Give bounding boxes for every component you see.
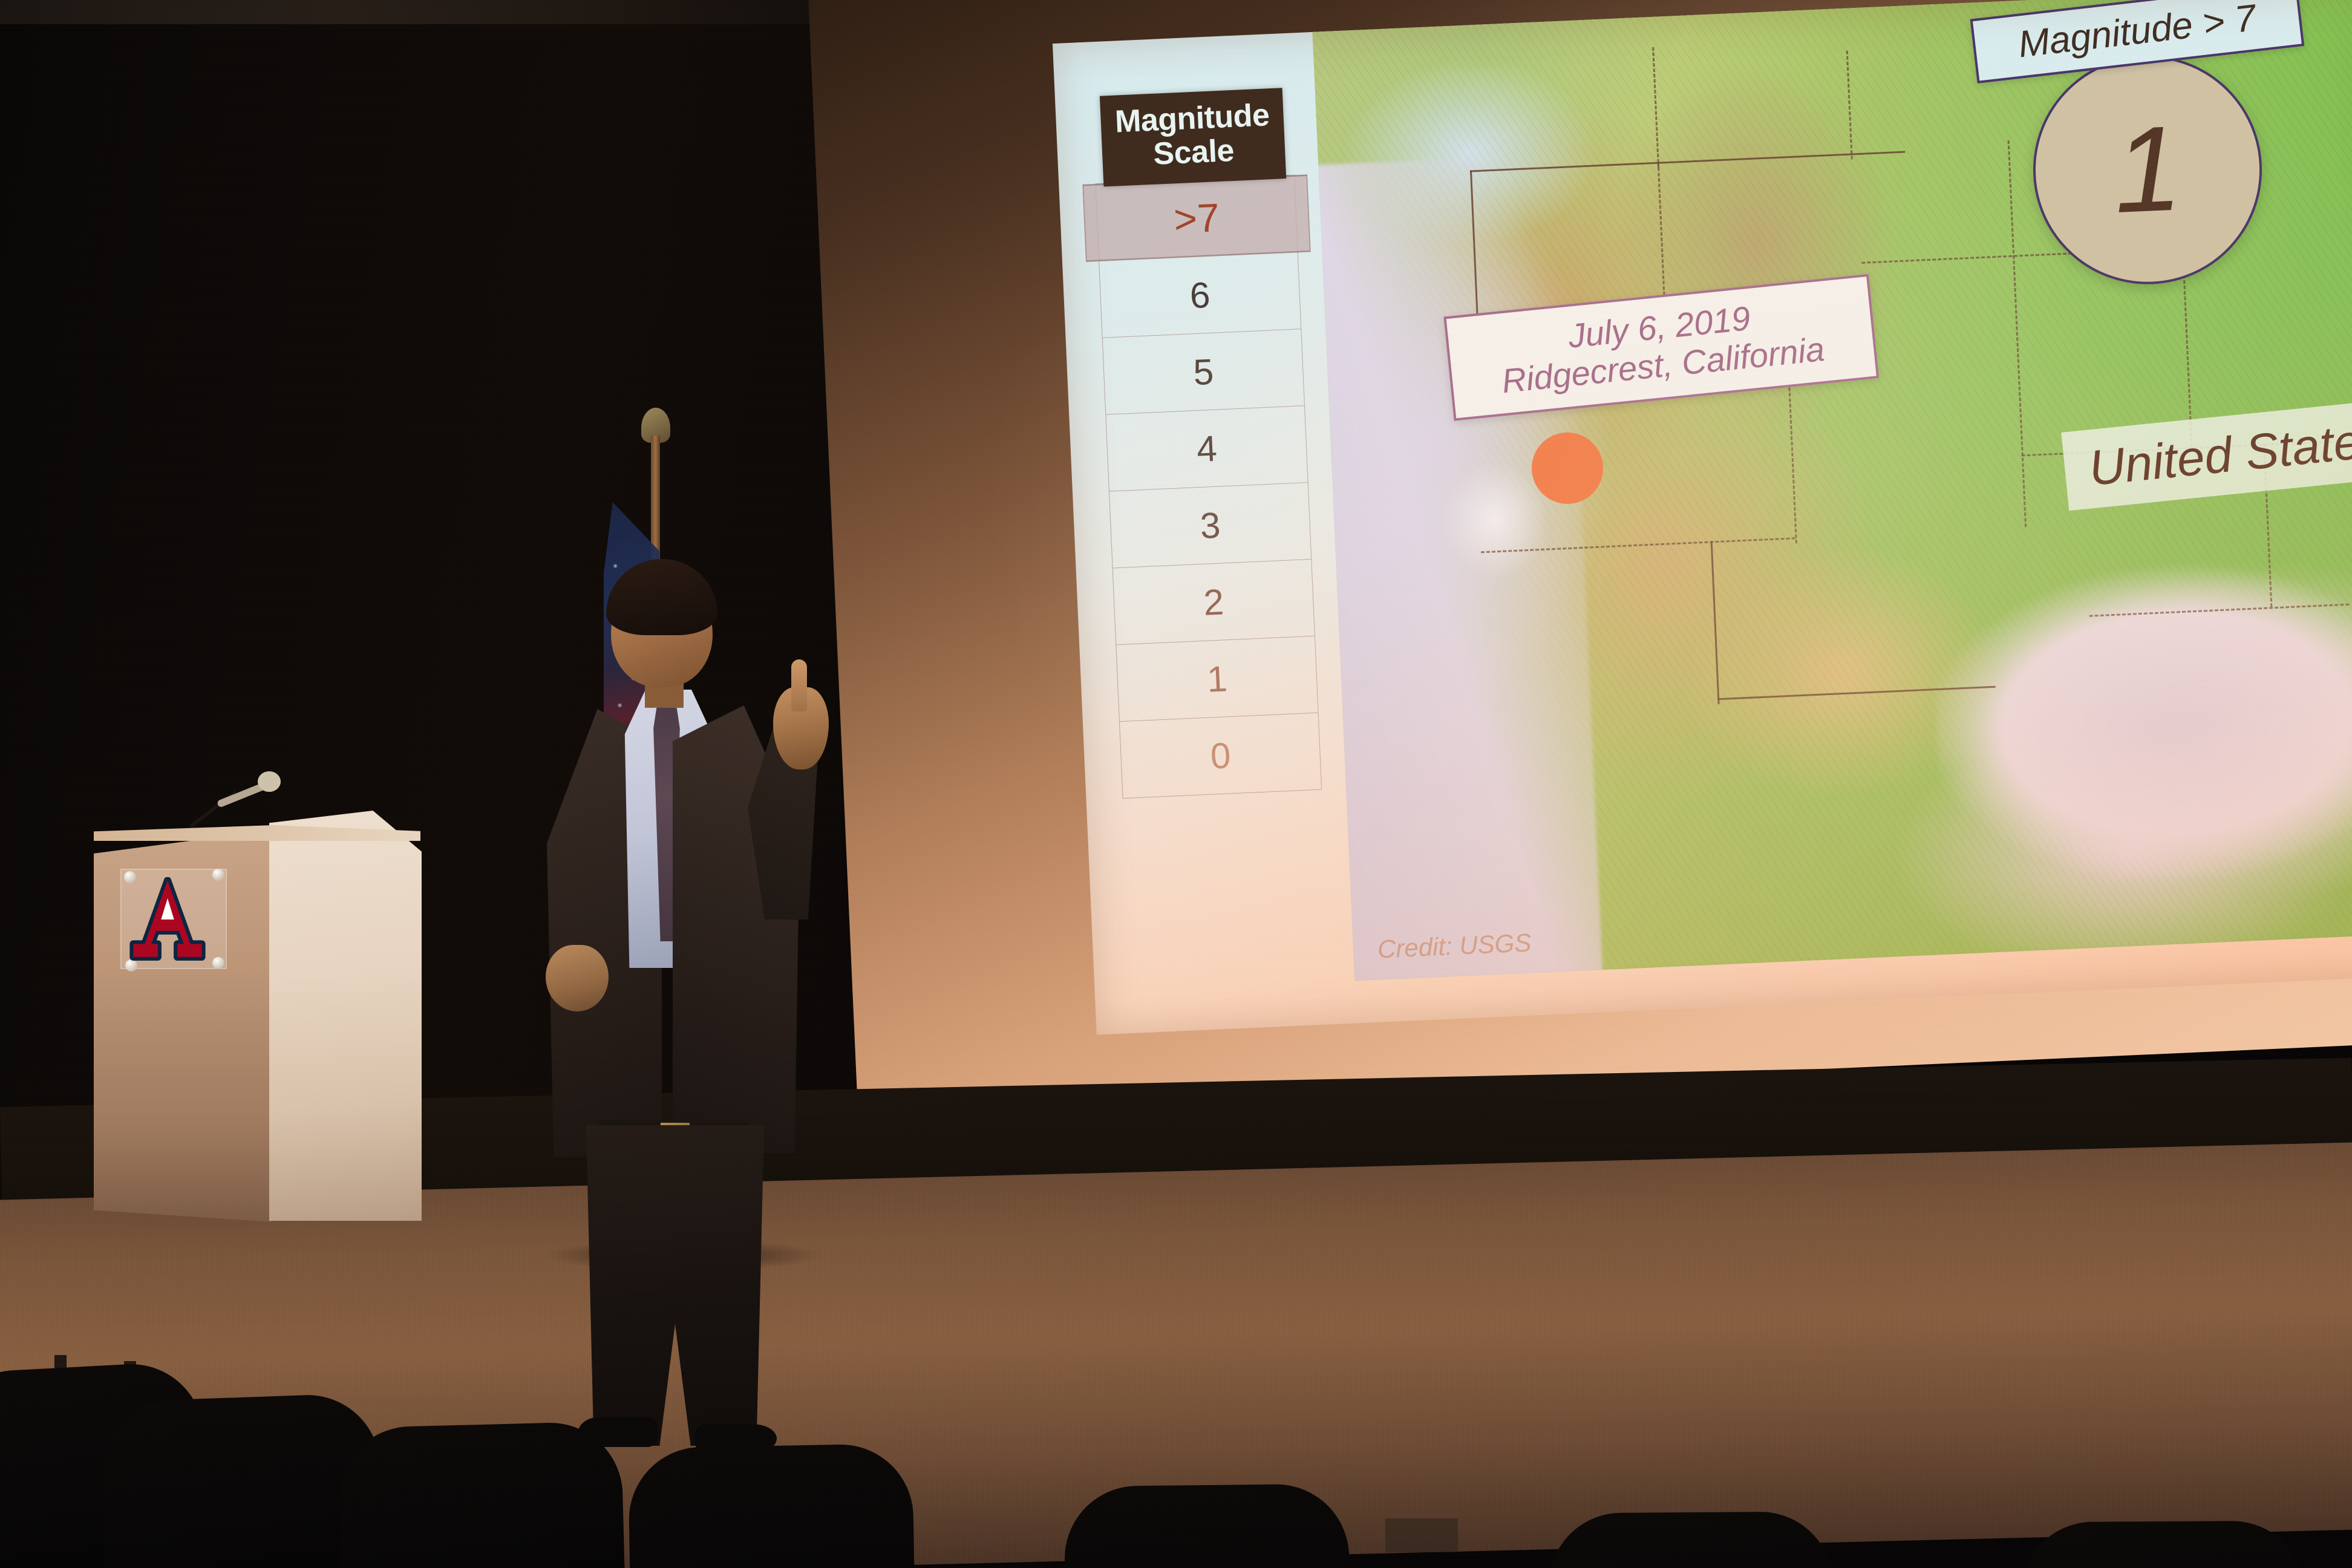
auditorium-seat: [628, 1443, 915, 1568]
ceiling-strip: [0, 0, 847, 24]
magnitude-scale-header: Magnitude Scale: [1100, 88, 1286, 187]
magnitude-row-3: 3: [1109, 483, 1311, 568]
lectern: [94, 811, 420, 1222]
magnitude-row-6: 6: [1099, 253, 1301, 338]
header-line-1: Magnitude: [1104, 98, 1281, 140]
magnitude-scale-panel: Magnitude Scale >7 6 5 4 3 2 1 0: [1091, 88, 1322, 799]
auditorium-seat: [1548, 1511, 1833, 1568]
auditorium-seat: [1064, 1484, 1350, 1568]
gooseneck-microphone: [185, 771, 287, 829]
magnitude-row-2: 2: [1113, 560, 1315, 645]
hair: [606, 559, 717, 635]
presentation-photo: July 6, 2019 Ridgecrest, California Magn…: [0, 0, 2352, 1568]
lectern-side-panel: [269, 811, 422, 1221]
speaker: [532, 569, 811, 1282]
presentation-slide: July 6, 2019 Ridgecrest, California Magn…: [1053, 0, 2352, 1034]
magnitude-row-1: 1: [1116, 636, 1318, 722]
floor-vent: [1385, 1518, 1458, 1552]
usgs-relief-map: July 6, 2019 Ridgecrest, California Magn…: [1312, 0, 2352, 981]
auditorium-seat: [336, 1421, 625, 1568]
auditorium-seat: [2020, 1521, 2305, 1568]
magnitude-row-0: 0: [1120, 713, 1321, 799]
pointing-finger: [791, 659, 807, 711]
magnitude-row-4: 4: [1106, 406, 1307, 491]
magnitude-row-5: 5: [1103, 330, 1304, 415]
projection-screen: July 6, 2019 Ridgecrest, California Magn…: [808, 0, 2352, 1130]
magnitude-row-gt7: >7: [1082, 175, 1310, 262]
magnitude-scale-list: >7 6 5 4 3 2 1 0: [1095, 175, 1322, 799]
lower-hand: [546, 945, 609, 1011]
university-of-arizona-a-icon: [126, 877, 209, 962]
